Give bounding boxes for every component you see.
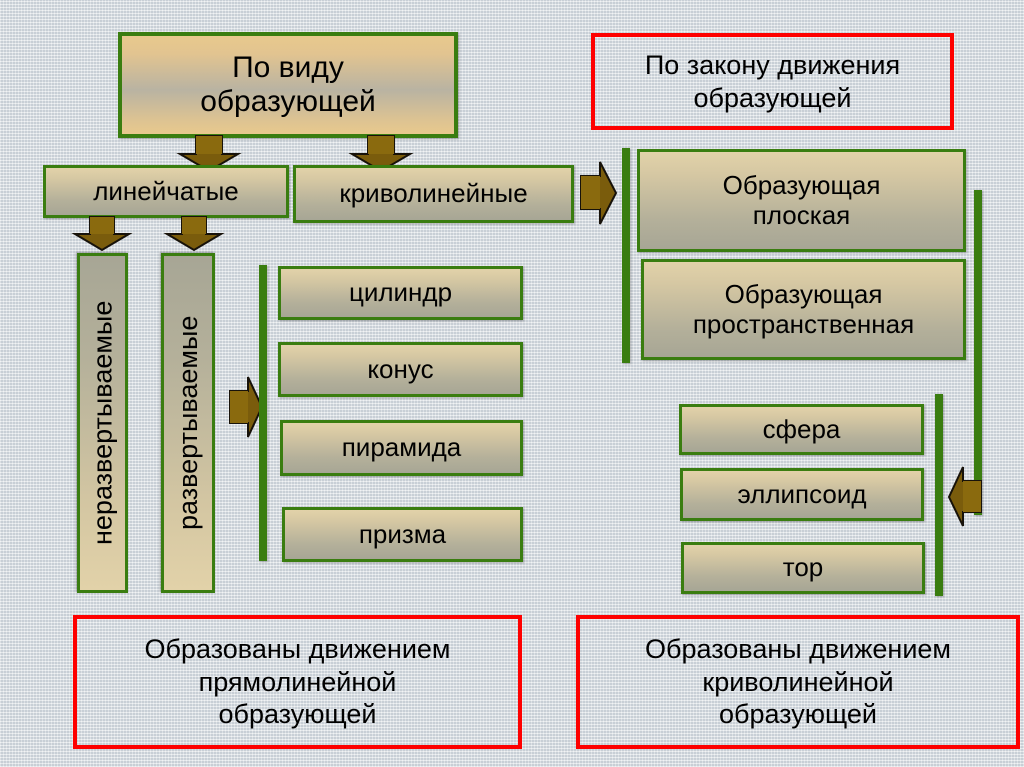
- node-cylinder: цилиндр: [278, 266, 523, 320]
- arrow-right-from-curvilinear: [578, 160, 618, 226]
- node-label: развертываемые: [173, 316, 203, 530]
- node-label: По видуобразующей: [200, 51, 376, 118]
- arrow-down-to-non-developable: [73, 217, 131, 251]
- connector-bar-developable-shapes: [259, 265, 267, 561]
- node-non-developable: неразвертываемые: [77, 253, 128, 593]
- node-label: По закону движенияобразующей: [645, 49, 900, 115]
- node-label: Образующаяпространственная: [693, 280, 914, 338]
- node-label: тор: [783, 553, 824, 582]
- footer-label: Образованы движениемпрямолинейнойобразую…: [145, 633, 451, 732]
- node-label: неразвертываемые: [87, 301, 117, 545]
- connector-bar-curved-shapes: [935, 394, 943, 596]
- node-cone: конус: [278, 342, 523, 397]
- node-label: криволинейные: [339, 179, 527, 208]
- node-label: конус: [367, 355, 433, 384]
- arrow-left-to-curved-shapes: [947, 466, 983, 528]
- node-label: пирамида: [342, 433, 462, 462]
- node-generatrix-spatial: Образующаяпространственная: [641, 259, 966, 360]
- node-ellipsoid: эллипсоид: [680, 468, 924, 521]
- node-label: призма: [359, 520, 446, 549]
- footer-rectilinear-motion: Образованы движениемпрямолинейнойобразую…: [73, 615, 522, 749]
- node-label: Образующаяплоская: [723, 171, 881, 229]
- node-developable: развертываемые: [161, 253, 215, 593]
- node-sphere: сфера: [679, 404, 924, 455]
- arrow-down-to-developable: [165, 217, 223, 251]
- diagram-canvas: По видуобразующей По закону движенияобра…: [0, 0, 1024, 767]
- node-label: эллипсоид: [737, 480, 866, 509]
- node-by-motion-law: По закону движенияобразующей: [591, 33, 954, 130]
- node-label: сфера: [763, 415, 841, 444]
- node-torus: тор: [681, 542, 925, 594]
- node-label: цилиндр: [349, 278, 452, 307]
- node-curvilinear: криволинейные: [293, 165, 574, 223]
- node-by-generatrix-type: По видуобразующей: [118, 32, 458, 138]
- node-pyramid: пирамида: [280, 420, 523, 476]
- node-label: линейчатые: [93, 177, 239, 206]
- node-prism: призма: [282, 507, 523, 562]
- footer-curvilinear-motion: Образованы движениемкриволинейнойобразую…: [576, 615, 1020, 749]
- connector-bar-generatrix-left: [622, 148, 630, 363]
- node-rectilinear: линейчатые: [43, 165, 289, 218]
- node-generatrix-planar: Образующаяплоская: [637, 149, 966, 252]
- footer-label: Образованы движениемкриволинейнойобразую…: [645, 633, 951, 732]
